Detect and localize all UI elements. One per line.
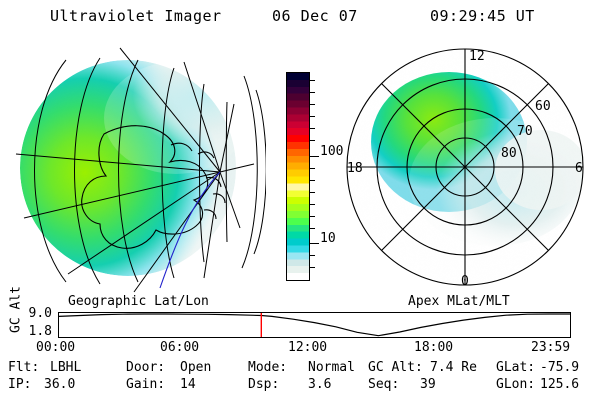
status-row-1: Flt: LBHL Door: Open Mode: Normal GC Alt… — [0, 360, 600, 378]
colorbar-minor-tick — [310, 168, 315, 169]
timeseries-curve — [59, 313, 570, 337]
instrument-title: Ultraviolet Imager — [50, 7, 222, 25]
aurora-emission-layer — [20, 60, 260, 276]
uv-imager-display: Ultraviolet Imager 06 Dec 07 09:29:45 UT — [0, 0, 600, 400]
status-glat-label: GLat: — [496, 360, 535, 375]
mlt-label-12: 12 — [469, 49, 485, 64]
status-dsp-value: 3.6 — [308, 377, 331, 392]
xtick-2359: 23:59 — [531, 340, 570, 355]
mlt-label-0: 0 — [461, 274, 469, 289]
xtick-0600: 06:00 — [160, 340, 199, 355]
mlat-label-60: 60 — [535, 99, 551, 114]
status-ip-label: IP: — [8, 377, 31, 392]
status-block: Flt: LBHL Door: Open Mode: Normal GC Alt… — [0, 360, 600, 400]
colorbar-minor-tick — [310, 216, 315, 217]
colorbar-minor-tick — [310, 116, 315, 117]
ytick-low: 1.8 — [18, 324, 52, 339]
colorbar-minor-tick — [310, 128, 315, 129]
colorbar-minor-tick — [310, 192, 315, 193]
colorbar-minor-tick — [310, 140, 315, 141]
status-gain-label: Gain: — [126, 377, 165, 392]
mlt-label-6: 6 — [575, 161, 583, 176]
ytick-high: 9.0 — [18, 306, 52, 321]
timeseries-title-geographic: Geographic Lat/Lon — [68, 294, 209, 309]
colorbar-minor-tick — [310, 92, 315, 93]
geographic-globe-image[interactable] — [8, 42, 266, 300]
status-door-value: Open — [180, 360, 211, 375]
status-door-label: Door: — [126, 360, 165, 375]
xtick-0000: 00:00 — [36, 340, 75, 355]
colorbar-minor-tick — [310, 104, 315, 105]
status-glon-value: 125.6 — [540, 377, 579, 392]
colorbar-minor-tick — [310, 204, 315, 205]
status-ip-value: 36.0 — [44, 377, 75, 392]
status-seq-label: Seq: — [368, 377, 399, 392]
observation-date: 06 Dec 07 — [272, 7, 358, 25]
xtick-1800: 18:00 — [414, 340, 453, 355]
mlat-label-70: 70 — [517, 124, 533, 139]
mlat-label-80: 80 — [501, 146, 517, 161]
colorbar-minor-tick — [310, 80, 315, 81]
apex-mlat-mlt-panel[interactable]: 12 18 6 0 60 70 80 — [345, 42, 595, 300]
colorbar-major-tick — [310, 243, 319, 244]
status-flt-label: Flt: — [8, 360, 39, 375]
colorbar-minor-tick — [310, 228, 315, 229]
status-gcalt-value: 7.4 Re — [430, 360, 477, 375]
altitude-curve — [59, 314, 570, 336]
status-gain-value: 14 — [180, 377, 196, 392]
status-gcalt-label: GC Alt: — [368, 360, 423, 375]
header-bar: Ultraviolet Imager 06 Dec 07 09:29:45 UT — [0, 2, 600, 30]
colorbar-panel: photon cm-2s-1 100 10 — [262, 60, 358, 300]
status-seq-value: 39 — [420, 377, 436, 392]
status-mode-label: Mode: — [248, 360, 287, 375]
mlt-spokes — [347, 49, 583, 285]
status-glat-value: -75.9 — [540, 360, 579, 375]
status-flt-value: LBHL — [50, 360, 81, 375]
colorbar-minor-tick — [310, 267, 315, 268]
colorbar-minor-tick — [310, 180, 315, 181]
colorbar-minor-tick — [310, 255, 315, 256]
colorbar-label-100: 100 — [320, 144, 343, 159]
status-mode-value: Normal — [308, 360, 355, 375]
status-dsp-label: Dsp: — [248, 377, 279, 392]
status-glon-label: GLon: — [496, 377, 535, 392]
colorbar-major-tick — [310, 156, 319, 157]
mlt-label-18: 18 — [347, 161, 363, 176]
colorbar-label-10: 10 — [320, 231, 336, 246]
timeseries-title-apex: Apex MLat/MLT — [408, 294, 510, 309]
orbit-altitude-timeseries-panel[interactable]: Geographic Lat/Lon Apex MLat/MLT GC Alt … — [0, 296, 600, 354]
geographic-globe-panel[interactable] — [8, 42, 266, 300]
colorbar-tick-marks — [286, 72, 318, 281]
observation-time: 09:29:45 UT — [430, 7, 535, 25]
timeseries-plot-box[interactable] — [58, 312, 571, 338]
apex-dial-image[interactable]: 12 18 6 0 60 70 80 — [345, 42, 595, 300]
xtick-1200: 12:00 — [288, 340, 327, 355]
status-row-2: IP: 36.0 Gain: 14 Dsp: 3.6 Seq: 39 GLon:… — [0, 377, 600, 395]
